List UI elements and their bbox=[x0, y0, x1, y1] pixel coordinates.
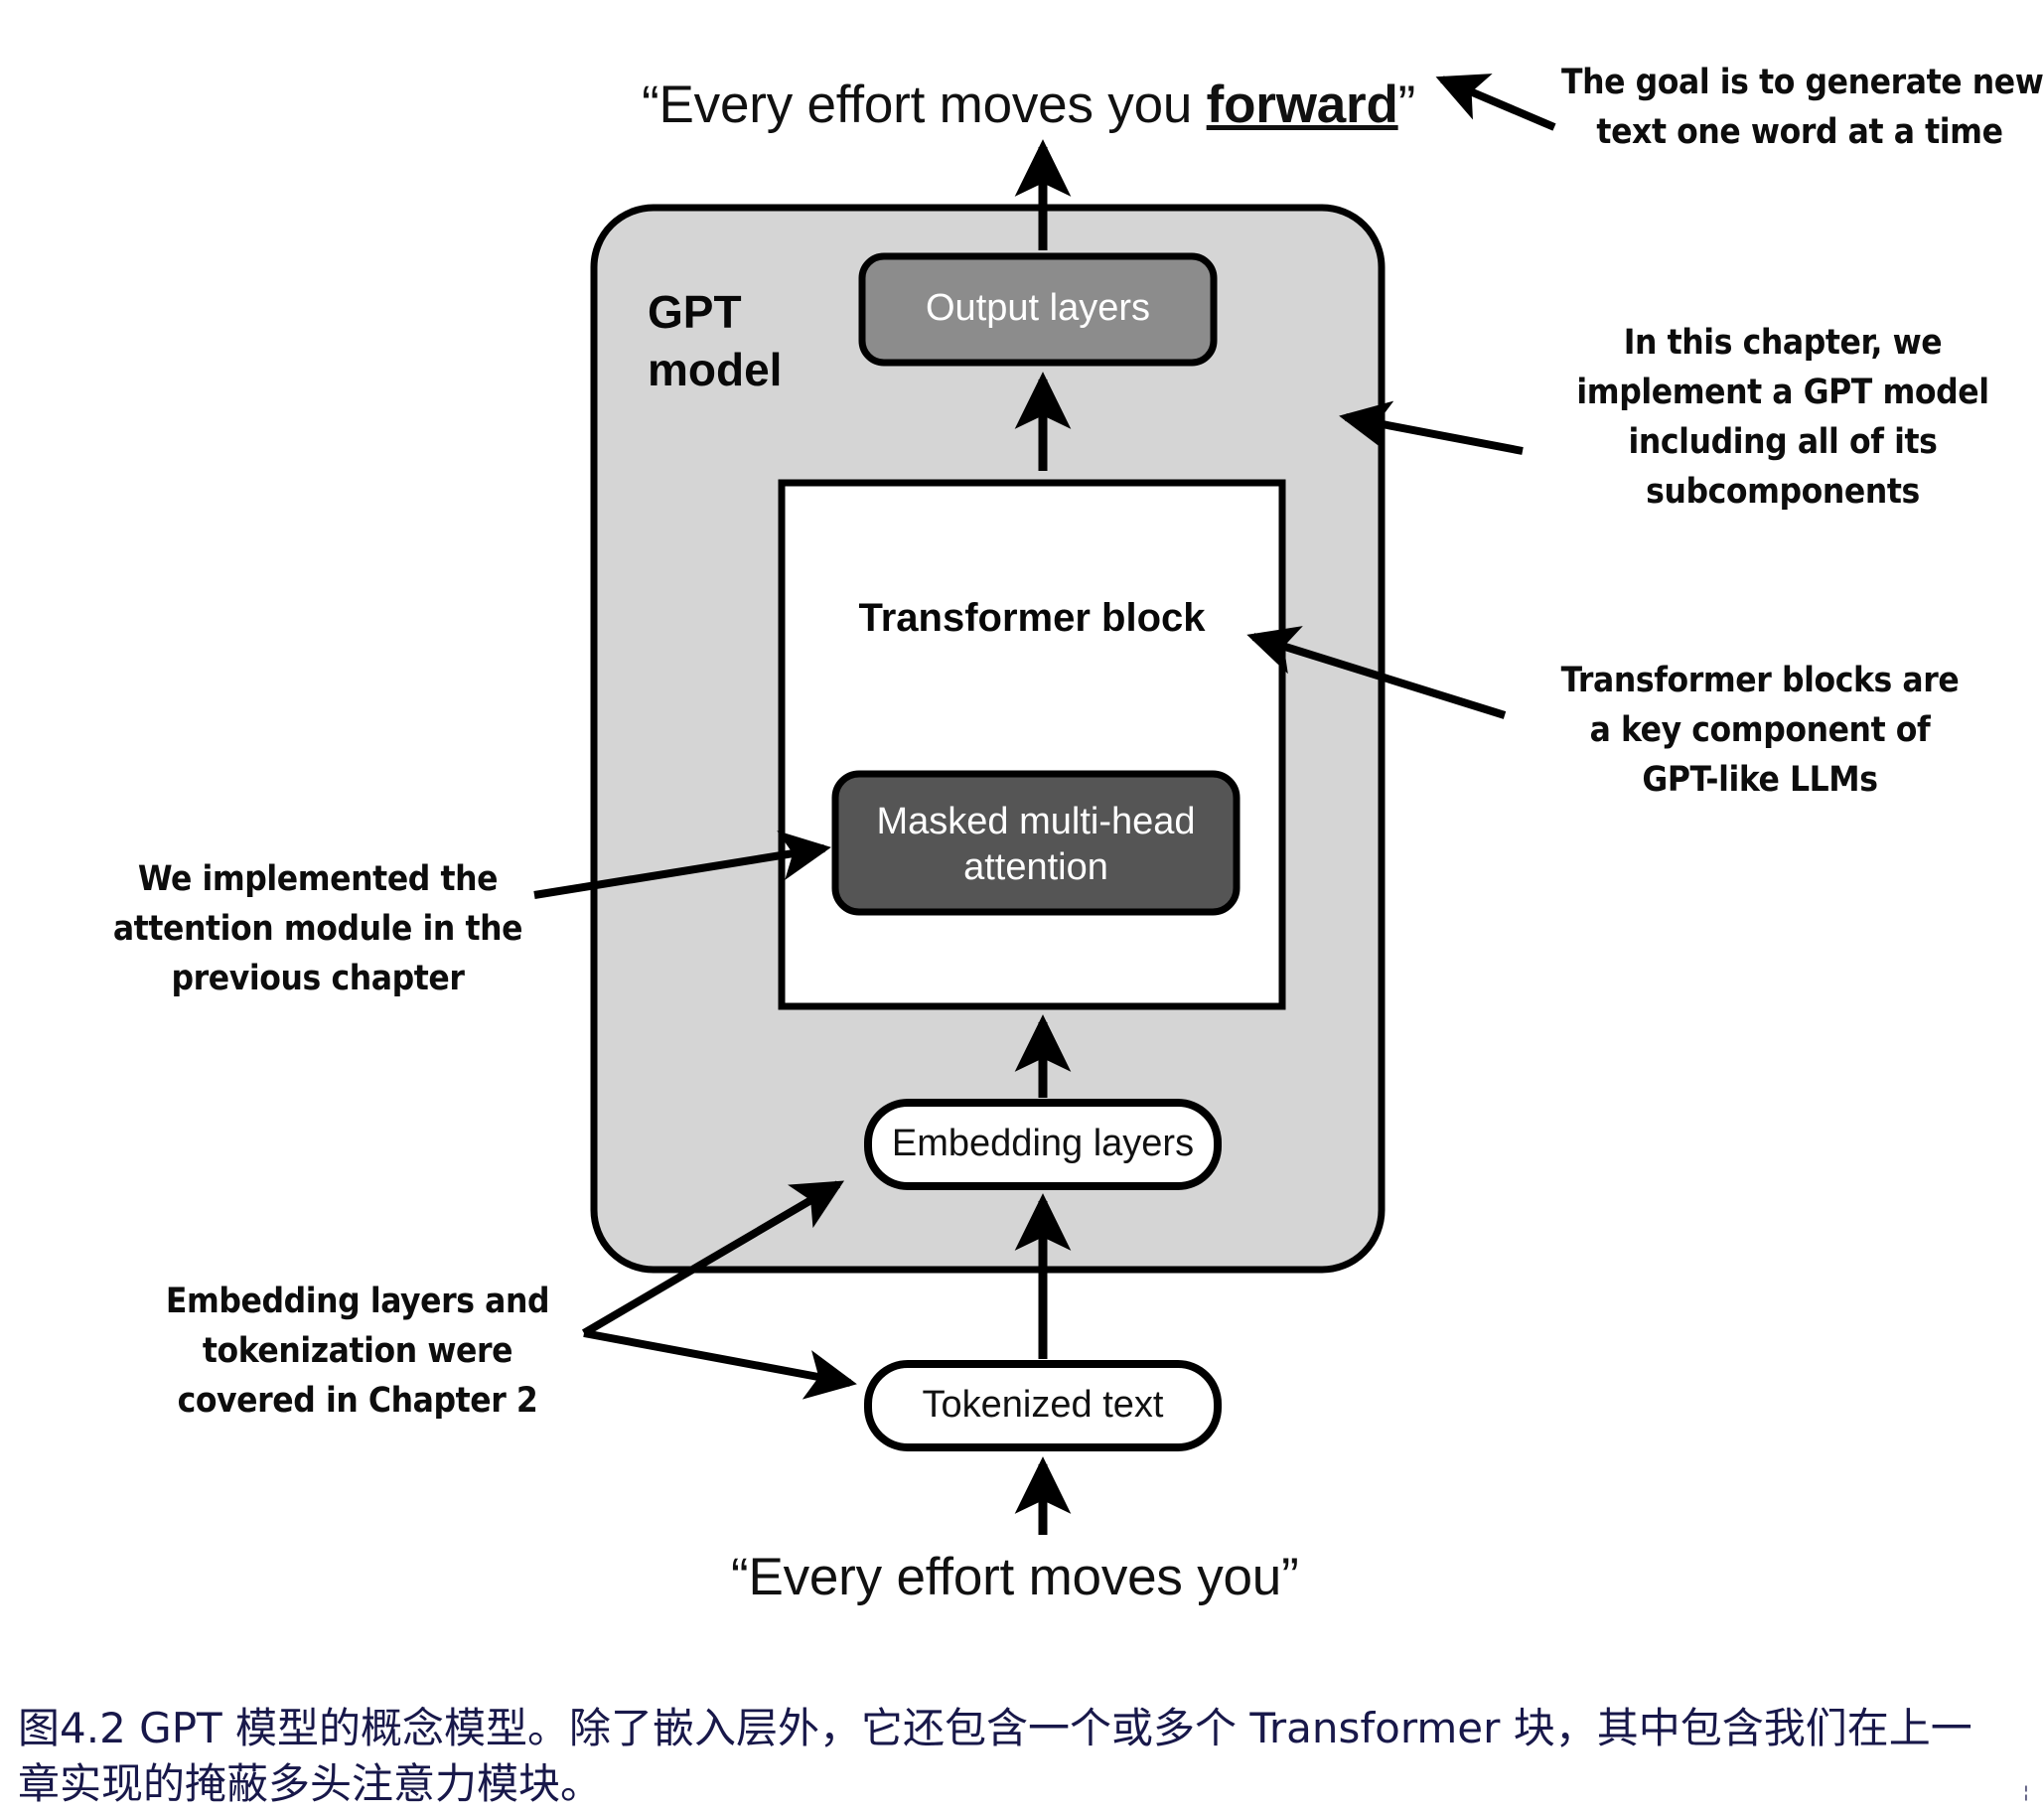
leader-goal bbox=[1442, 79, 1554, 127]
tokenized-text-label: Tokenized text bbox=[868, 1382, 1218, 1428]
output-sentence: “Every effort moves you forward” bbox=[613, 14, 1415, 135]
annotation-attention: We implemented theattention module in th… bbox=[94, 854, 541, 1003]
embedding-layers-label: Embedding layers bbox=[868, 1121, 1218, 1166]
output-sentence-emphasis: forward bbox=[1207, 76, 1398, 134]
output-sentence-prefix: “Every effort moves you bbox=[642, 76, 1207, 134]
annotation-chapter: In this chapter, weimplement a GPT model… bbox=[1534, 318, 2031, 517]
gpt-model-label: GPTmodel bbox=[648, 283, 866, 398]
transformer-block-label: Transformer block bbox=[782, 596, 1282, 641]
caption-line-2: 章实现的掩蔽多头注意力模块。 bbox=[18, 1756, 2034, 1812]
output-sentence-suffix: ” bbox=[1398, 76, 1415, 134]
caption-line-1: 图4.2 GPT 模型的概念模型。除了嵌入层外，它还包含一个或多个 Transf… bbox=[18, 1701, 2034, 1756]
figure-caption: 图4.2 GPT 模型的概念模型。除了嵌入层外，它还包含一个或多个 Transf… bbox=[18, 1701, 2034, 1812]
page-mark: ¦ bbox=[2024, 1784, 2028, 1802]
annotation-transformer: Transformer blocks area key component of… bbox=[1517, 656, 2003, 805]
masked-attention-label: Masked multi-headattention bbox=[835, 799, 1237, 890]
leader-embedding-right bbox=[584, 1333, 850, 1383]
annotation-goal: The goal is to generate newtext one word… bbox=[1561, 58, 2038, 157]
transformer-block-box bbox=[782, 483, 1282, 1006]
annotation-embedding: Embedding layers andtokenization werecov… bbox=[139, 1277, 576, 1426]
output-layers-label: Output layers bbox=[862, 285, 1214, 331]
input-sentence: “Every effort moves you” bbox=[731, 1547, 1299, 1607]
